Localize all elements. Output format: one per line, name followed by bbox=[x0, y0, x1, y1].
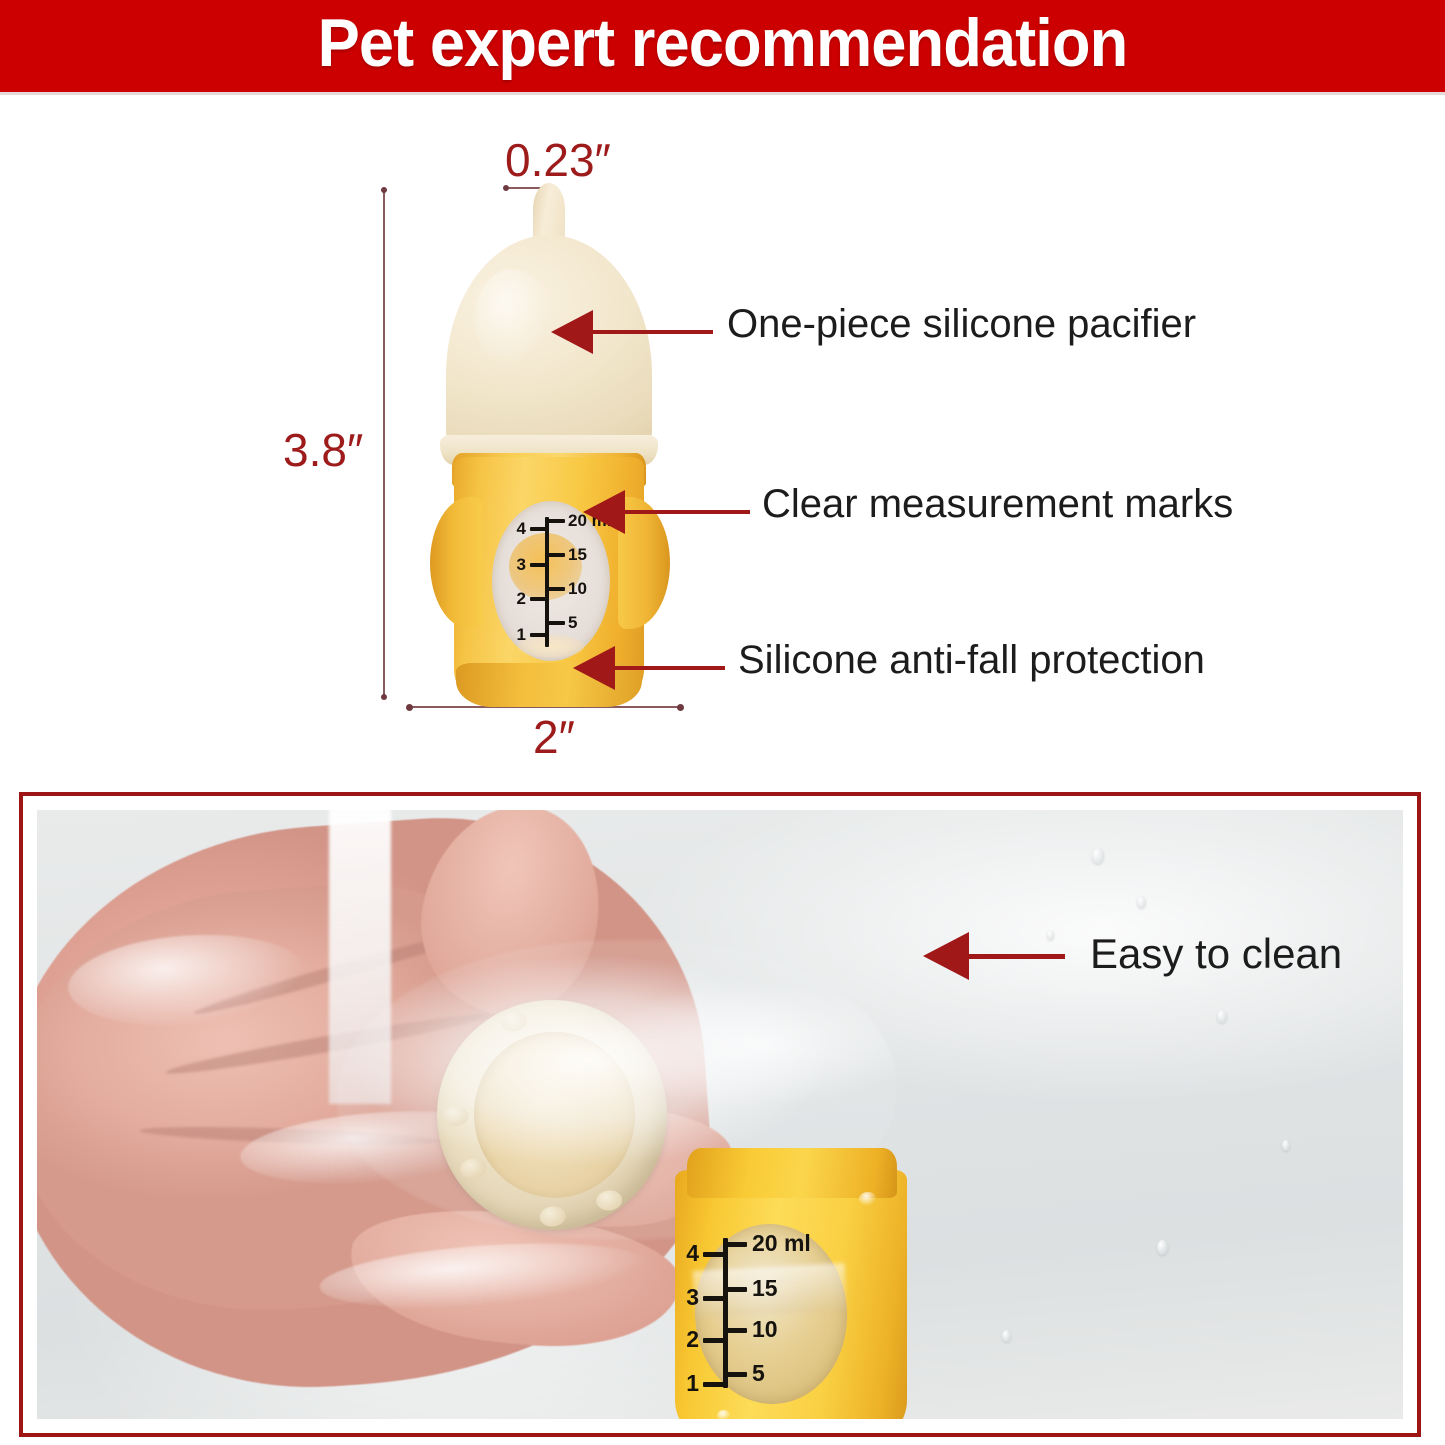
water-droplet bbox=[1217, 1010, 1227, 1023]
callout-label-easy-clean: Easy to clean bbox=[1090, 930, 1342, 978]
water-droplet bbox=[1137, 896, 1146, 908]
scale-tick-5ml bbox=[547, 621, 565, 625]
callout-label-antifall: Silicone anti-fall protection bbox=[738, 638, 1205, 683]
scale-tick-3oz bbox=[530, 563, 547, 567]
callout-arrow-measurement-head bbox=[583, 490, 625, 534]
photo-scale-label-20ml: 20 ml bbox=[752, 1232, 811, 1255]
pacifier-dome bbox=[446, 235, 652, 450]
photo-scale-axis bbox=[723, 1238, 728, 1388]
scale-tick-2oz bbox=[530, 597, 547, 601]
callout-arrow-antifall-line bbox=[613, 666, 725, 670]
photo-scale-tick-1oz bbox=[703, 1382, 725, 1387]
scale-label-2: 2 bbox=[506, 590, 526, 607]
photo-scale-label-4: 4 bbox=[677, 1242, 699, 1265]
photo-scale-tick-20ml bbox=[725, 1242, 747, 1247]
dimension-height-label: 3.8″ bbox=[283, 423, 363, 477]
callout-arrow-easy-clean-head bbox=[923, 932, 969, 980]
dimension-height-line bbox=[383, 190, 385, 697]
photo-scale-tick-4oz bbox=[703, 1252, 725, 1257]
bottle-illustration: 20 ml 4 15 3 10 2 5 1 bbox=[404, 183, 694, 703]
photo-frame: 20 ml 4 15 3 10 2 5 1 bbox=[19, 792, 1421, 1437]
photo-scale-label-3: 3 bbox=[677, 1286, 699, 1309]
callout-arrow-measurement-line bbox=[623, 510, 750, 514]
photo-scale-tick-5ml bbox=[725, 1372, 747, 1377]
photo-scale-tick-15ml bbox=[725, 1287, 747, 1292]
photo-scale-tick-10ml bbox=[725, 1328, 747, 1333]
photo-scale-tick-2oz bbox=[703, 1338, 725, 1343]
header-banner: Pet expert recommendation bbox=[0, 0, 1445, 92]
water-droplet bbox=[1092, 848, 1104, 864]
scale-label-10: 10 bbox=[568, 580, 587, 597]
bottle-grip-right bbox=[618, 497, 670, 629]
scale-label-15: 15 bbox=[568, 546, 587, 563]
scale-label-4: 4 bbox=[506, 520, 526, 537]
page-title: Pet expert recommendation bbox=[51, 0, 1395, 92]
water-droplet bbox=[1047, 930, 1054, 940]
product-photo: 20 ml 4 15 3 10 2 5 1 bbox=[37, 810, 1403, 1419]
photo-bottle: 20 ml 4 15 3 10 2 5 1 bbox=[657, 1110, 927, 1419]
wet-highlight bbox=[65, 927, 311, 1034]
photo-scale-label-15: 15 bbox=[752, 1277, 778, 1300]
bottle-water-droplet bbox=[717, 1410, 731, 1419]
water-droplet bbox=[1002, 1330, 1011, 1342]
photo-scale-tick-3oz bbox=[703, 1296, 725, 1301]
dimension-bottom-width-label: 2″ bbox=[533, 710, 575, 764]
bottle-water-droplet bbox=[859, 1192, 877, 1206]
scale-label-1: 1 bbox=[506, 626, 526, 643]
callout-arrow-antifall-head bbox=[573, 646, 615, 690]
scale-tick-15ml bbox=[547, 553, 565, 557]
callout-label-measurement: Clear measurement marks bbox=[762, 482, 1233, 527]
dimension-top-width-label: 0.23″ bbox=[505, 133, 611, 187]
scale-tick-4oz bbox=[530, 527, 547, 531]
scale-label-3: 3 bbox=[506, 556, 526, 573]
callout-arrow-pacifier-line bbox=[591, 330, 713, 334]
photo-bottle-collar bbox=[687, 1148, 897, 1198]
callout-arrow-easy-clean-line bbox=[967, 954, 1065, 959]
scale-tick-20ml bbox=[547, 519, 565, 523]
scale-axis bbox=[545, 517, 549, 647]
scale-tick-1oz bbox=[530, 633, 547, 637]
product-diagram-section: 0.23″ 3.8″ 2″ 20 ml 4 bbox=[0, 95, 1445, 785]
water-droplet bbox=[1282, 1140, 1290, 1151]
callout-arrow-pacifier-head bbox=[551, 310, 593, 354]
bottle-grip-left bbox=[430, 497, 482, 629]
scale-label-5: 5 bbox=[568, 614, 577, 631]
water-droplet bbox=[1157, 1240, 1168, 1255]
photo-scale-label-1: 1 bbox=[677, 1372, 699, 1395]
photo-scale-label-2: 2 bbox=[677, 1328, 699, 1351]
scale-tick-10ml bbox=[547, 587, 565, 591]
photo-scale-label-5: 5 bbox=[752, 1362, 765, 1385]
photo-scale-label-10: 10 bbox=[752, 1318, 778, 1341]
callout-label-pacifier: One-piece silicone pacifier bbox=[727, 302, 1196, 347]
